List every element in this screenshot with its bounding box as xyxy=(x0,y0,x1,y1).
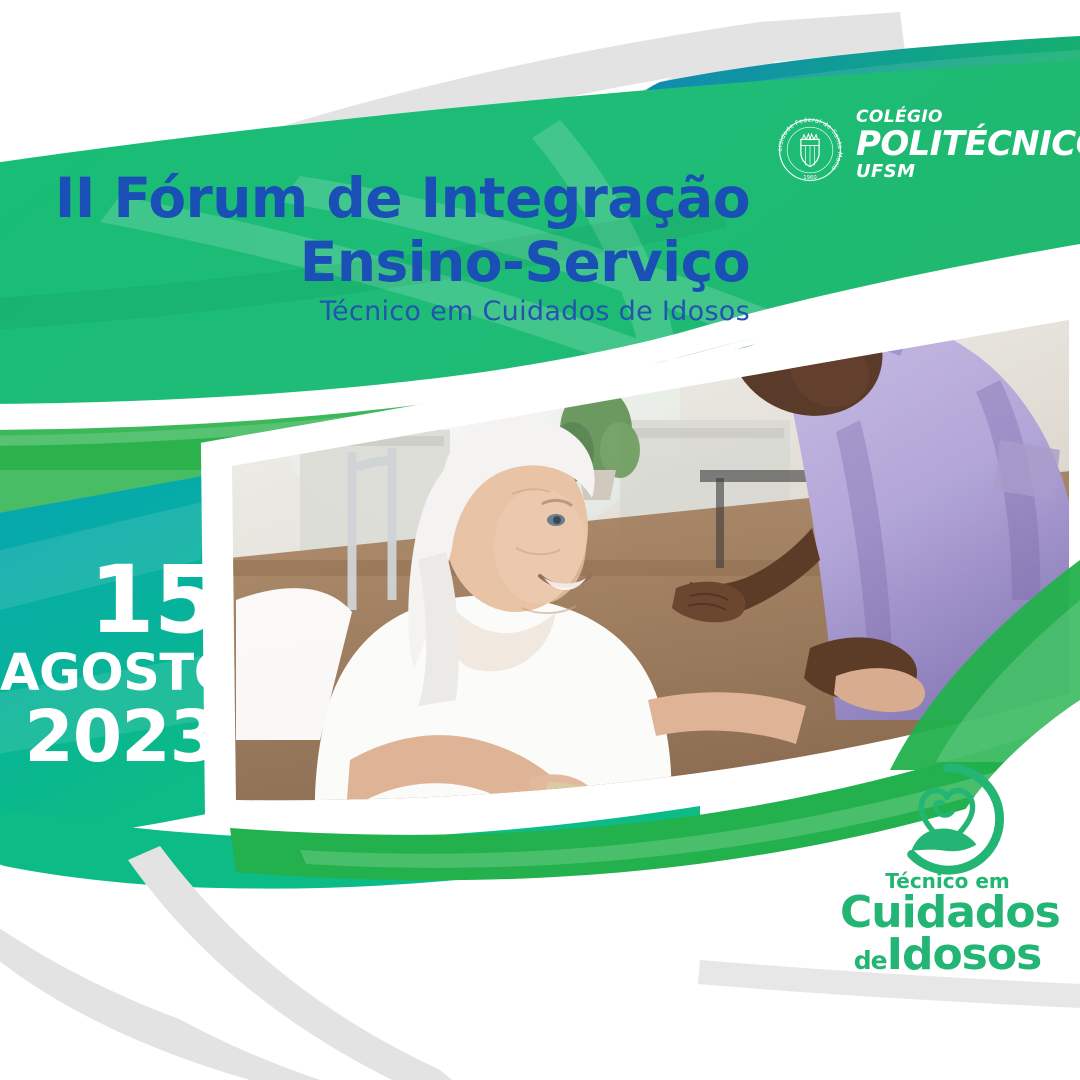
title-line-1: II Fórum de Integração xyxy=(0,166,750,230)
event-title: II Fórum de Integração Ensino-Serviço Té… xyxy=(0,166,750,329)
svg-text:1960: 1960 xyxy=(803,175,817,181)
institution-logo-text: COLÉGIO POLITÉCNICO UFSM xyxy=(856,108,1080,182)
institution-line-2: POLITÉCNICO xyxy=(856,127,1080,162)
date-year: 2023 xyxy=(0,702,218,772)
title-line-2: Ensino-Serviço xyxy=(0,230,750,294)
date-day: 15 xyxy=(0,556,218,646)
title-subtitle: Técnico em Cuidados de Idosos xyxy=(0,295,750,329)
institution-line-3: UFSM xyxy=(856,162,1080,182)
course-line-2: Cuidados xyxy=(840,892,1055,934)
course-line-3: deIdosos xyxy=(840,934,1055,982)
course-line-3-large: Idosos xyxy=(887,929,1042,980)
poster-root: II Fórum de Integração Ensino-Serviço Té… xyxy=(0,0,1080,1080)
event-date: 15 AGOSTO 2023 xyxy=(0,556,218,772)
course-logo: Técnico em Cuidados deIdosos xyxy=(840,760,1055,960)
ufsm-crest-icon: Universidade Federal de Santa Maria 1960 xyxy=(772,112,848,188)
institution-logo: Universidade Federal de Santa Maria 1960… xyxy=(772,110,1042,190)
course-line-3-small: de xyxy=(854,946,887,975)
hand-holding-heart-icon xyxy=(888,760,1006,878)
course-logo-text: Técnico em Cuidados deIdosos xyxy=(840,870,1055,982)
date-month: AGOSTO xyxy=(0,646,218,702)
